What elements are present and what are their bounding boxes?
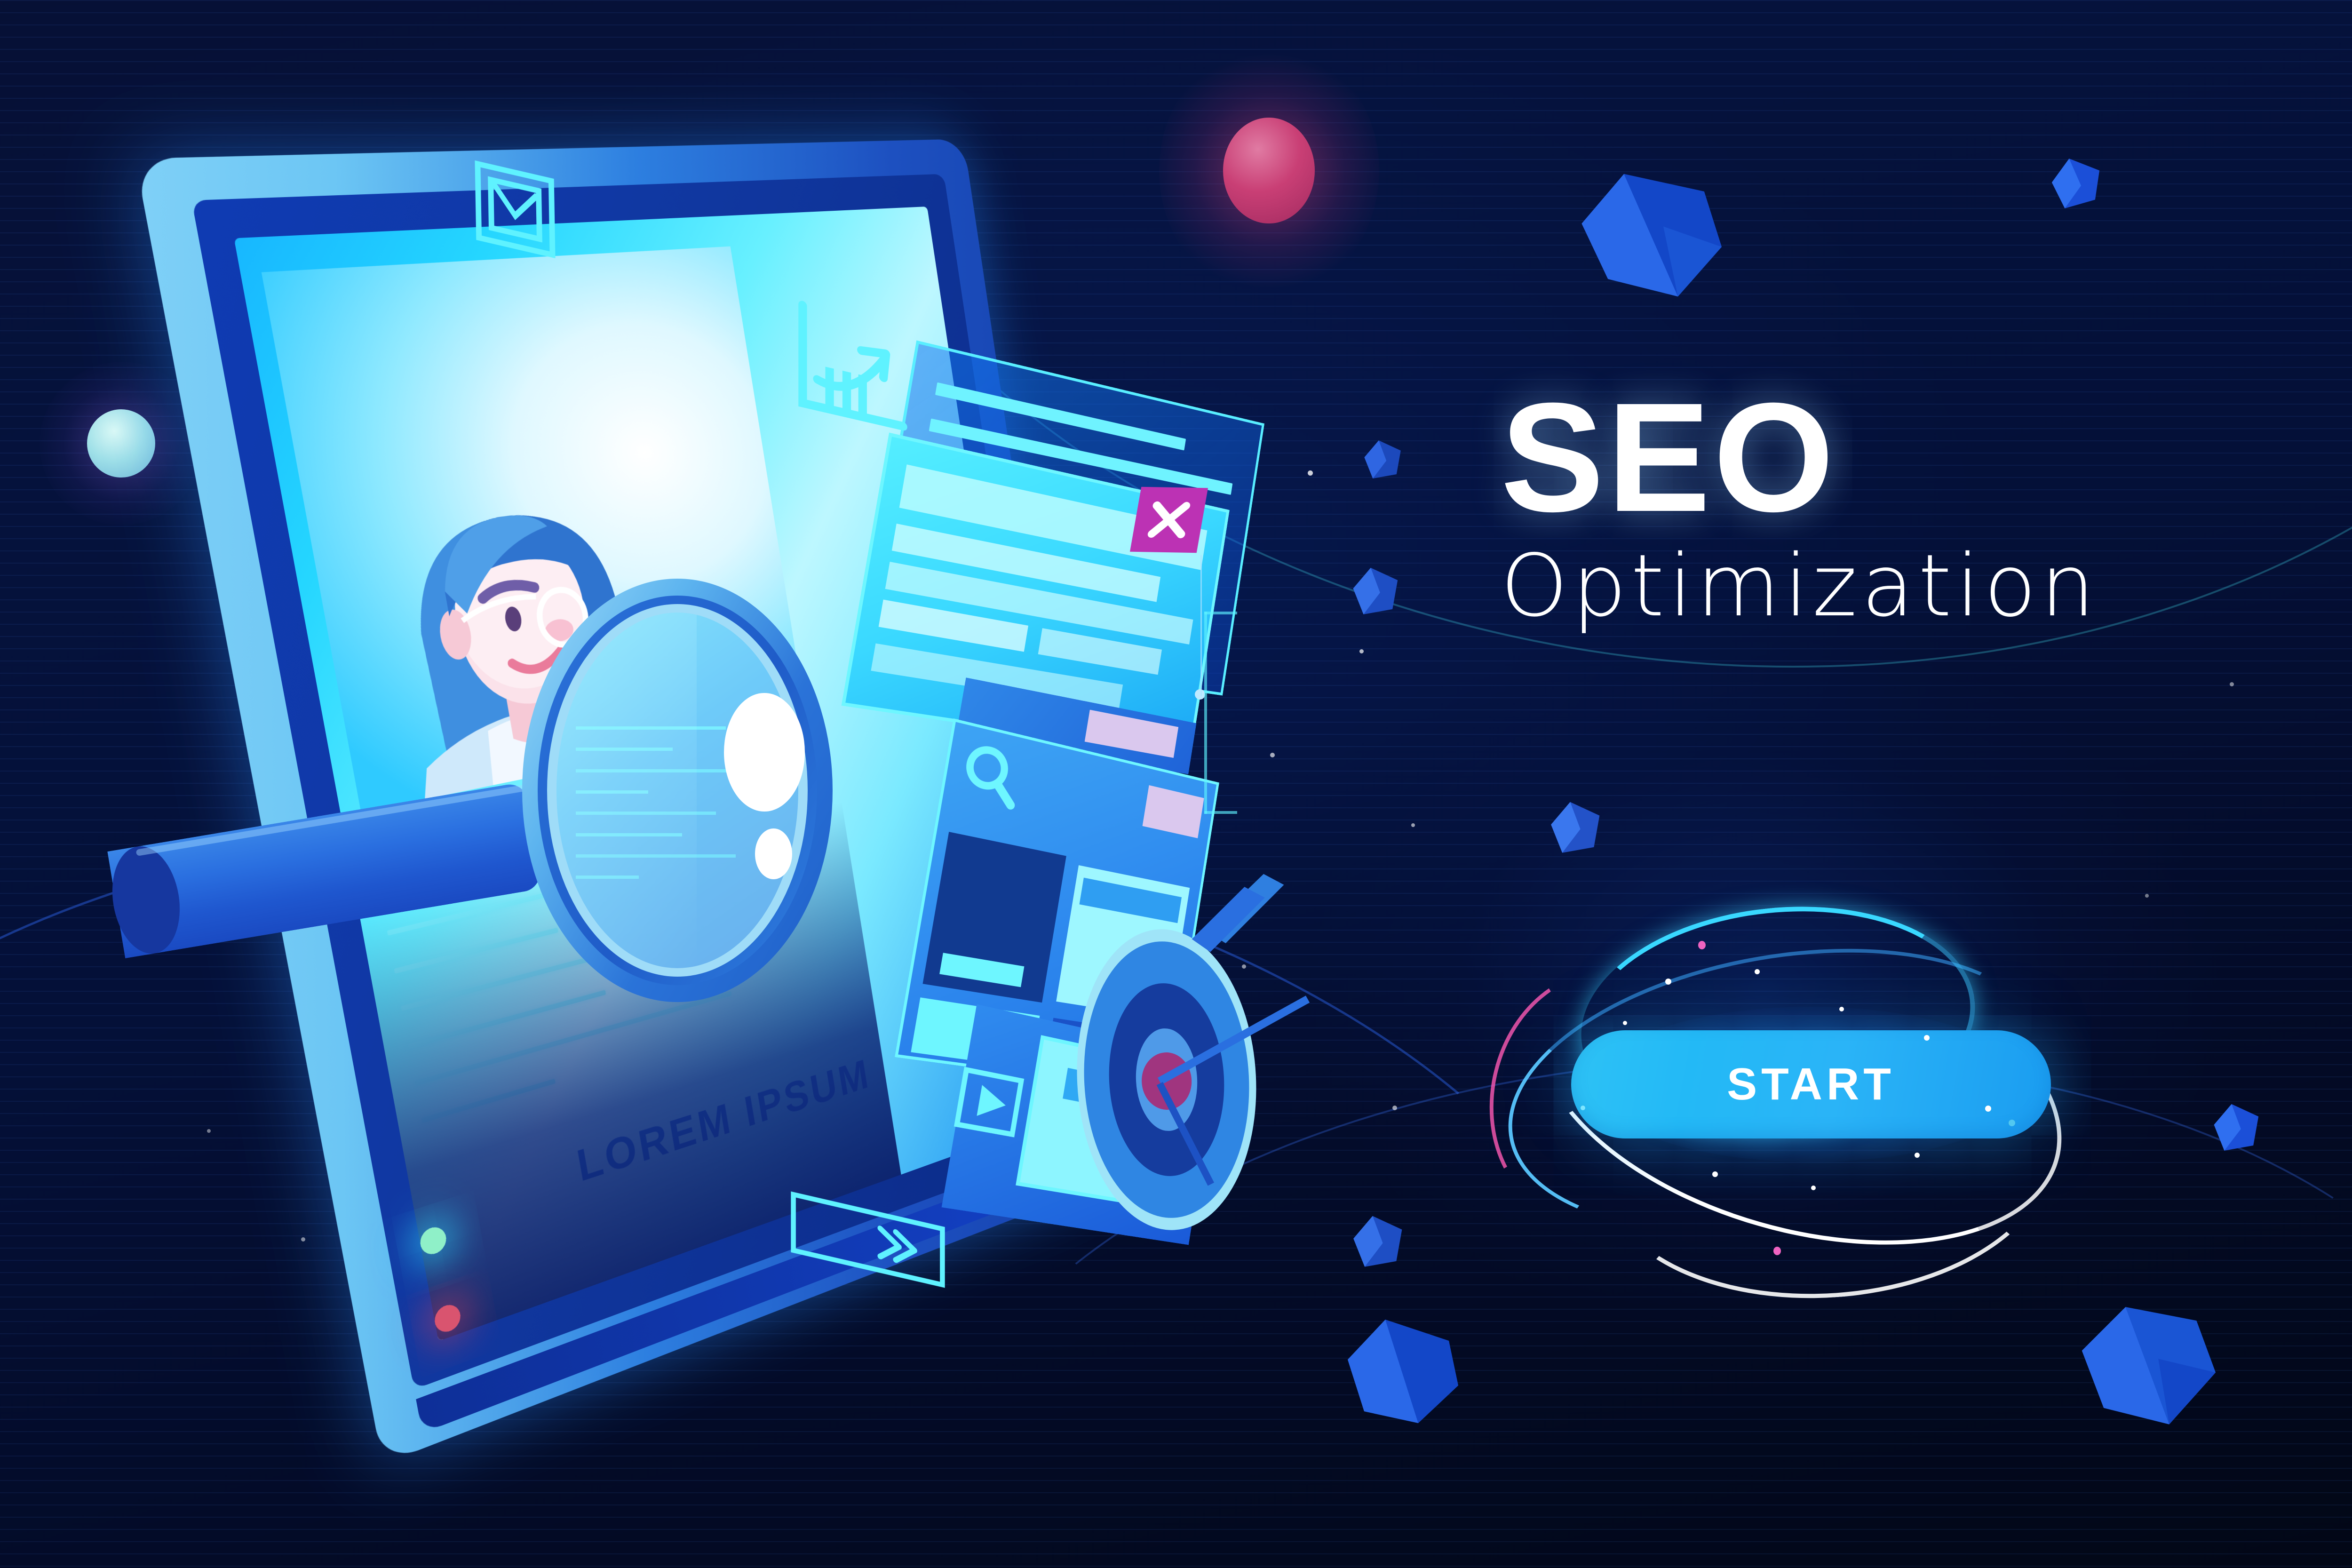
seo-landing-hero: LOREM IPSUM [0, 0, 2352, 1568]
star-field [0, 0, 2352, 1568]
